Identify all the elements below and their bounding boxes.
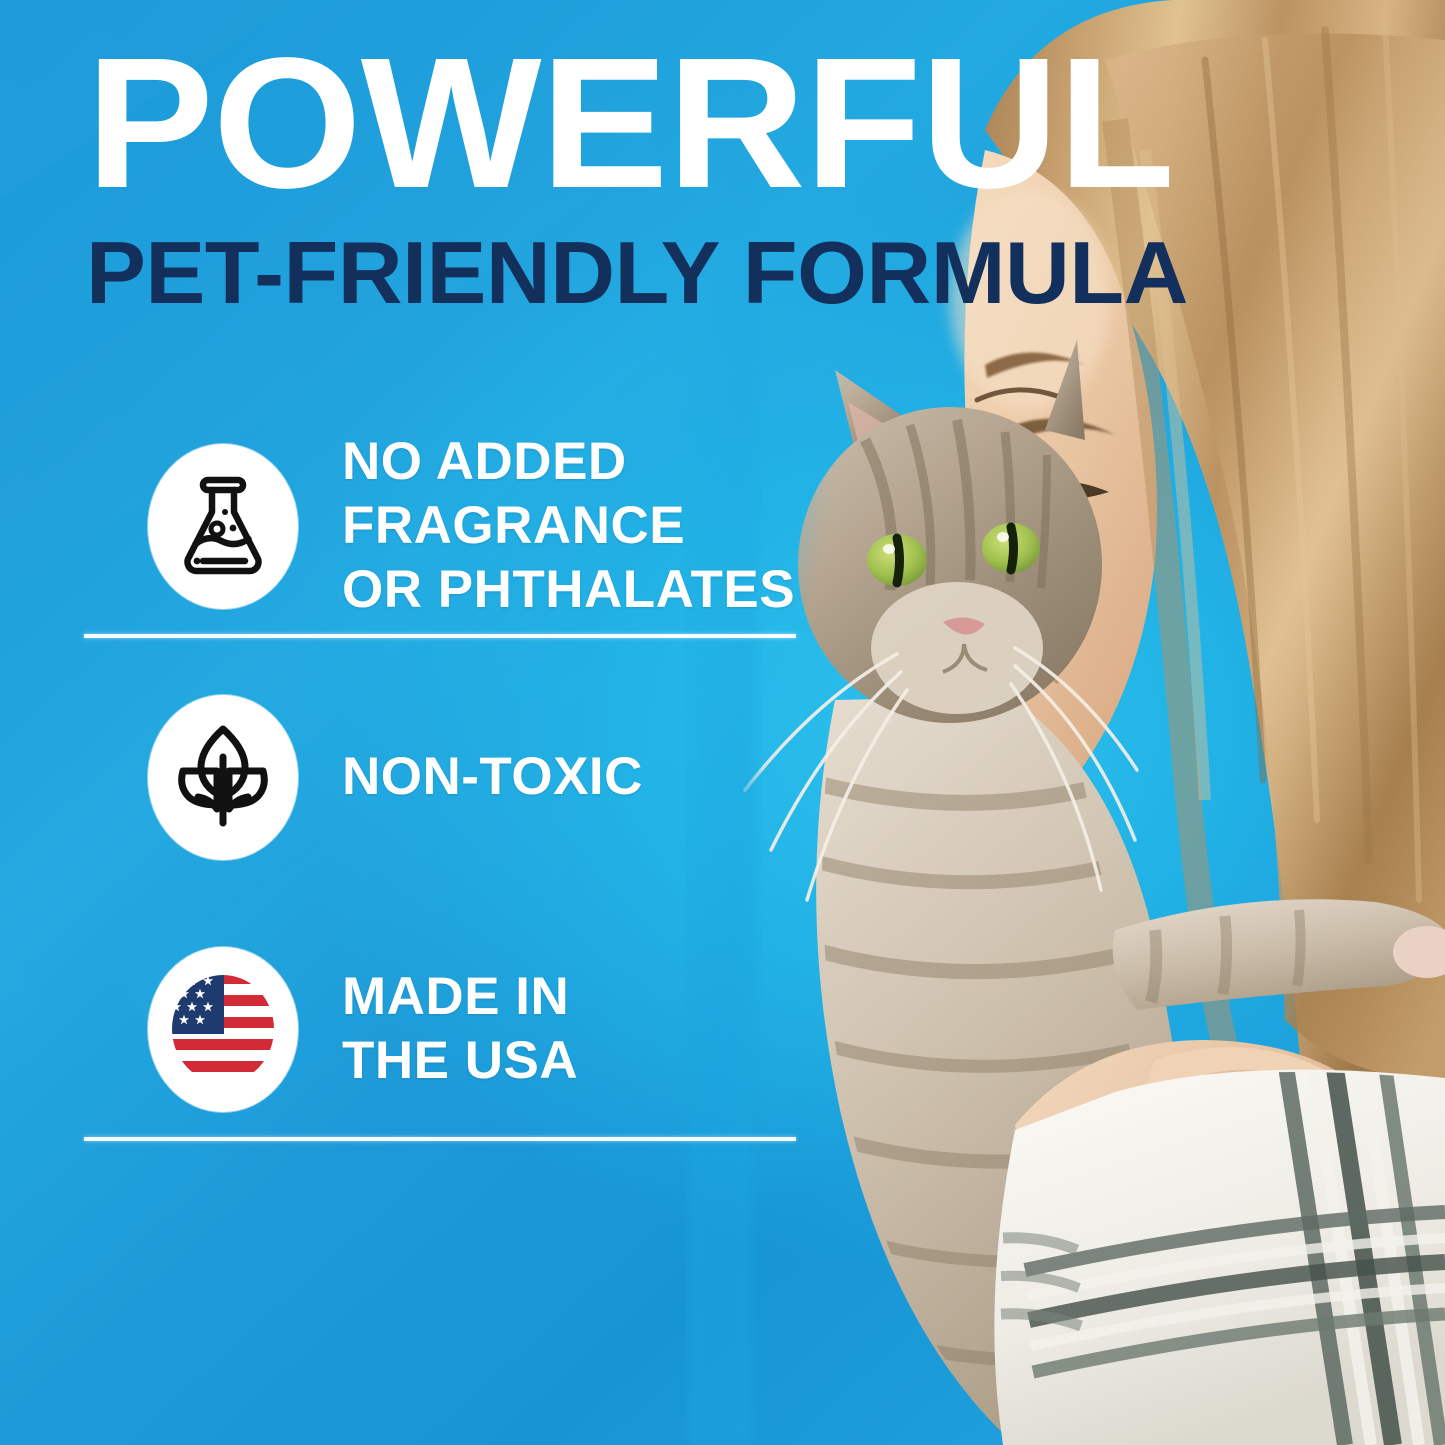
feature-label: MADE IN THE USA <box>342 965 578 1093</box>
feature-divider <box>84 634 796 638</box>
feature-label: NO ADDED FRAGRANCE OR PHTHALATES <box>342 430 795 622</box>
flask-icon <box>148 444 298 609</box>
headline-block: POWERFUL PET-FRIENDLY FORMULA <box>86 48 1206 317</box>
feature-divider <box>84 1137 796 1141</box>
usa-flag-icon <box>148 947 298 1112</box>
page-subtitle: PET-FRIENDLY FORMULA <box>86 229 1228 317</box>
feature-label: NON-TOXIC <box>342 745 643 809</box>
feature-item-non-toxic: NON-TOXIC <box>0 656 900 899</box>
feature-list: NO ADDED FRAGRANCE OR PHTHALATES NON-TO <box>0 418 900 1129</box>
promo-poster: POWERFUL PET-FRIENDLY FORMULA <box>0 0 1445 1445</box>
feature-item-no-added-fragrance: NO ADDED FRAGRANCE OR PHTHALATES <box>0 418 900 634</box>
leaf-plant-icon <box>148 695 298 860</box>
feature-item-made-in-usa: MADE IN THE USA <box>0 929 900 1129</box>
page-title: POWERFUL <box>86 48 1240 201</box>
